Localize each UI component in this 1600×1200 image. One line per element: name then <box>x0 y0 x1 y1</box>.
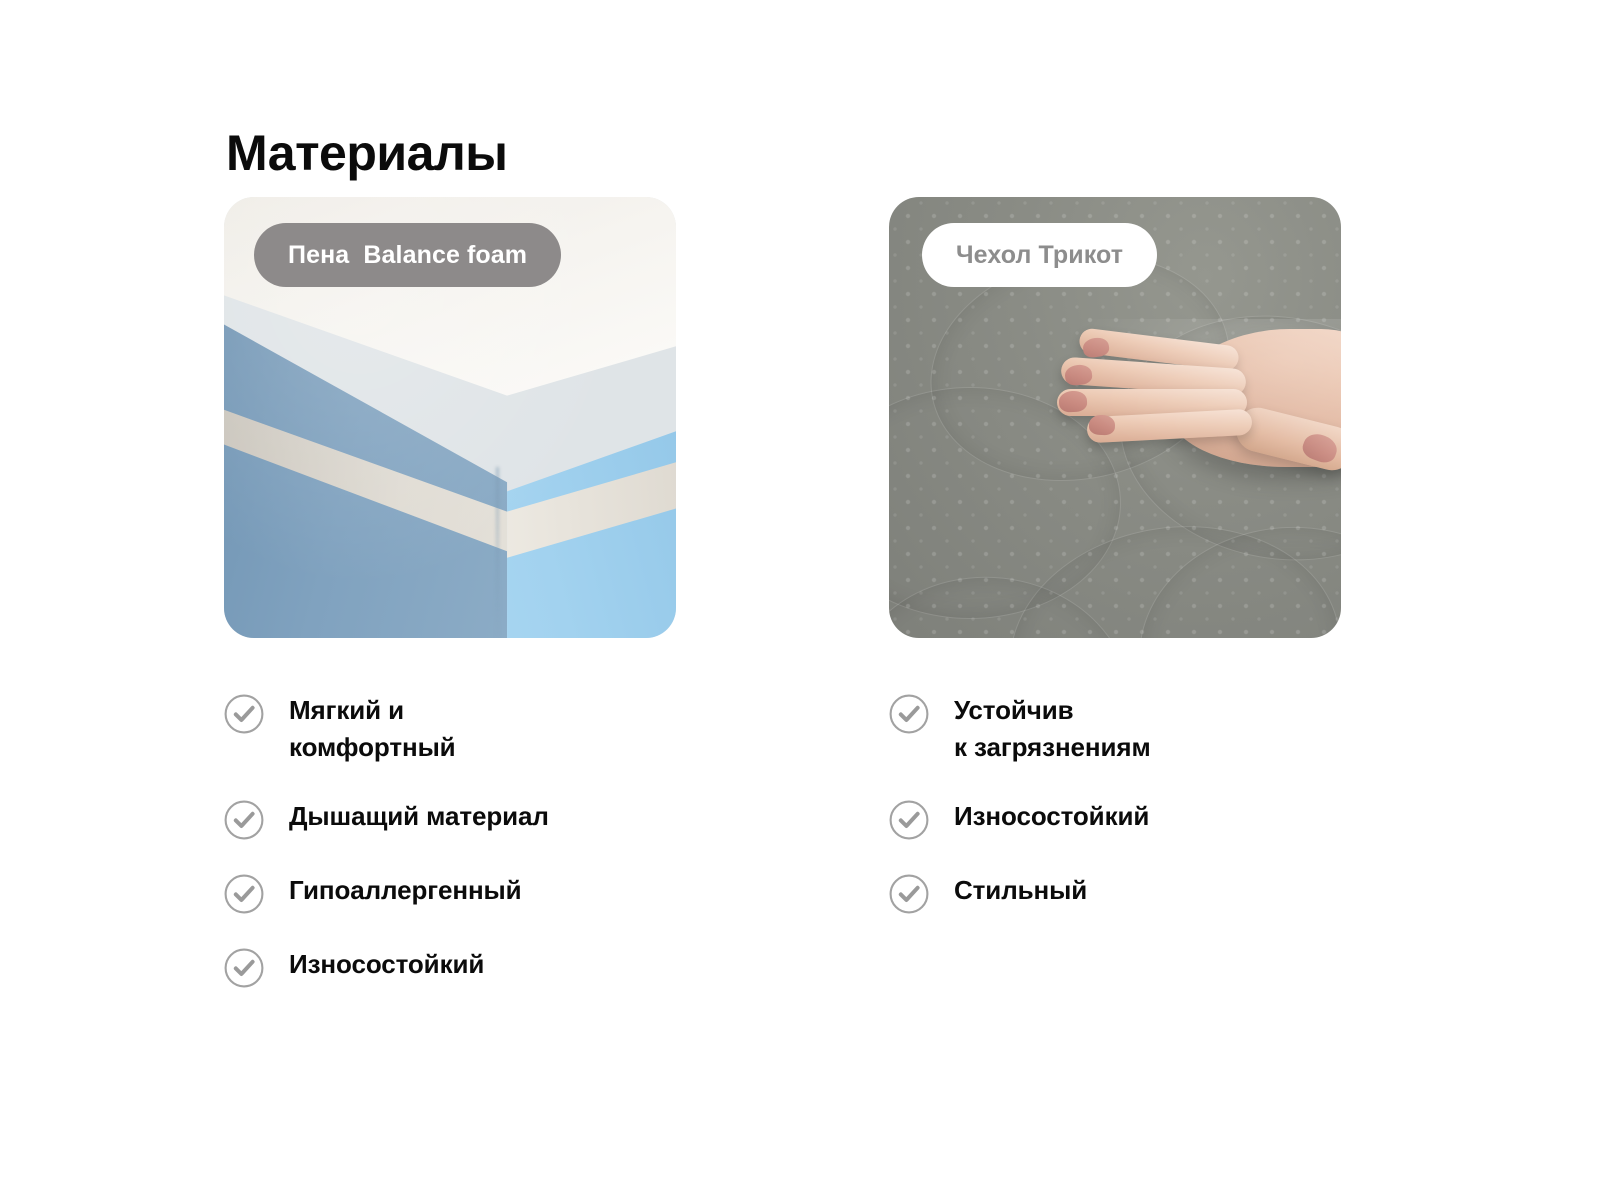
fingernail <box>1058 390 1087 412</box>
list-item: Гипоаллергенный <box>224 871 676 914</box>
list-item: Дышащий материал <box>224 797 676 840</box>
foam-feature-list: Мягкий и комфортный Дышащий материал <box>224 691 676 988</box>
foam-corner-crease <box>496 467 499 638</box>
check-circle-icon <box>889 694 929 734</box>
list-item-label: Износостойкий <box>954 797 1149 835</box>
foam-media-card[interactable]: Пена Balance foam <box>224 197 676 638</box>
list-item: Износостойкий <box>224 945 676 988</box>
list-item: Устойчив к загрязнениям <box>889 691 1341 766</box>
material-column-foam: Пена Balance foam Мягкий и комфортный <box>224 197 676 638</box>
cover-badge: Чехол Трикот <box>922 223 1157 287</box>
cover-media-card[interactable]: Чехол Трикот <box>889 197 1341 638</box>
fingernail <box>1089 415 1116 436</box>
list-item: Мягкий и комфортный <box>224 691 676 766</box>
hand-illustration <box>1039 325 1341 485</box>
check-circle-icon <box>224 874 264 914</box>
list-item-label: Стильный <box>954 871 1087 909</box>
material-column-cover: Чехол Трикот Устойчив к загрязнениям <box>889 197 1341 638</box>
check-circle-icon <box>224 948 264 988</box>
foam-badge: Пена Balance foam <box>254 223 561 287</box>
materials-page: Материалы Пена Balance foam <box>0 0 1600 1200</box>
cover-feature-list: Устойчив к загрязнениям Износостойкий <box>889 691 1341 914</box>
check-circle-icon <box>889 874 929 914</box>
check-circle-icon <box>224 694 264 734</box>
list-item-label: Устойчив к загрязнениям <box>954 691 1151 766</box>
list-item: Стильный <box>889 871 1341 914</box>
list-item-label: Гипоаллергенный <box>289 871 522 909</box>
check-circle-icon <box>889 800 929 840</box>
page-title: Материалы <box>226 126 507 181</box>
list-item-label: Мягкий и комфортный <box>289 691 456 766</box>
list-item-label: Износостойкий <box>289 945 484 983</box>
check-circle-icon <box>224 800 264 840</box>
list-item-label: Дышащий материал <box>289 797 549 835</box>
list-item: Износостойкий <box>889 797 1341 840</box>
